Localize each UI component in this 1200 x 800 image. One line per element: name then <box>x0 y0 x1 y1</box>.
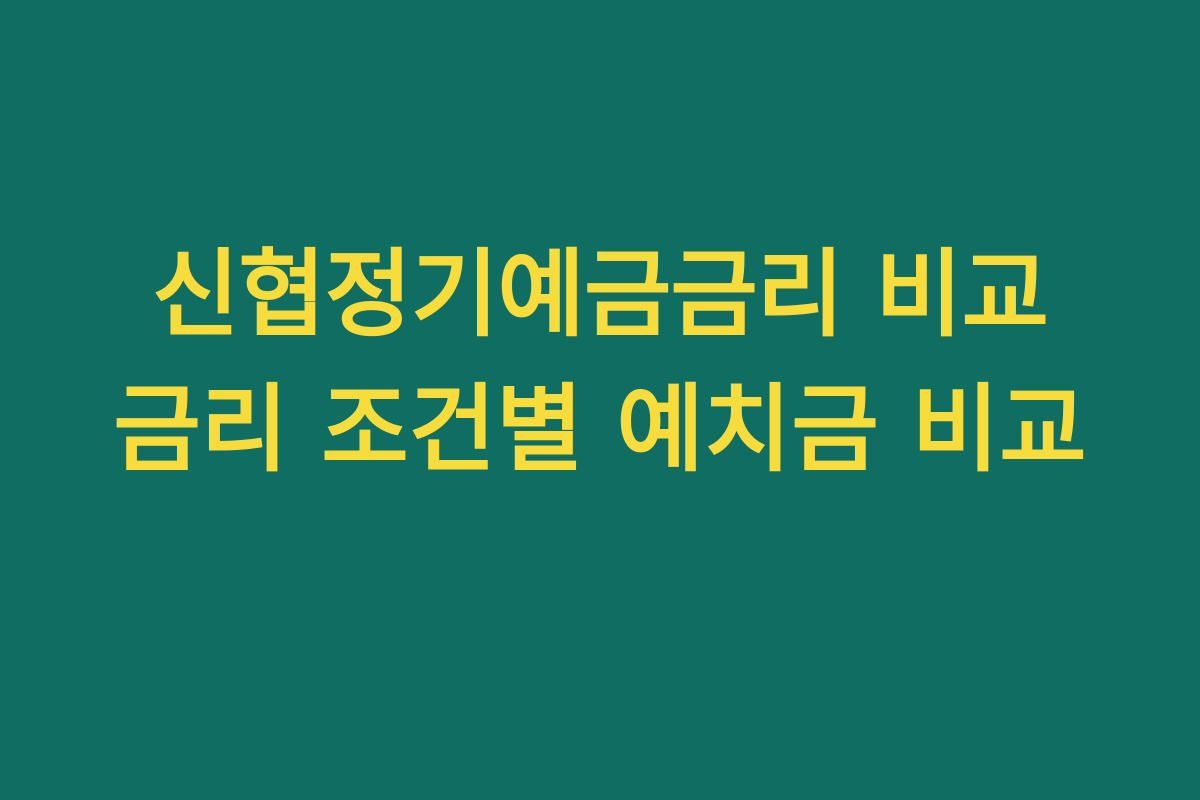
title-line-1: 신협정기예금금리 비교 <box>0 228 1200 363</box>
title-card: 신협정기예금금리 비교 금리 조건별 예치금 비교 <box>0 0 1200 800</box>
title-text-block: 신협정기예금금리 비교 금리 조건별 예치금 비교 <box>0 228 1200 498</box>
title-line-2: 금리 조건별 예치금 비교 <box>0 363 1200 498</box>
